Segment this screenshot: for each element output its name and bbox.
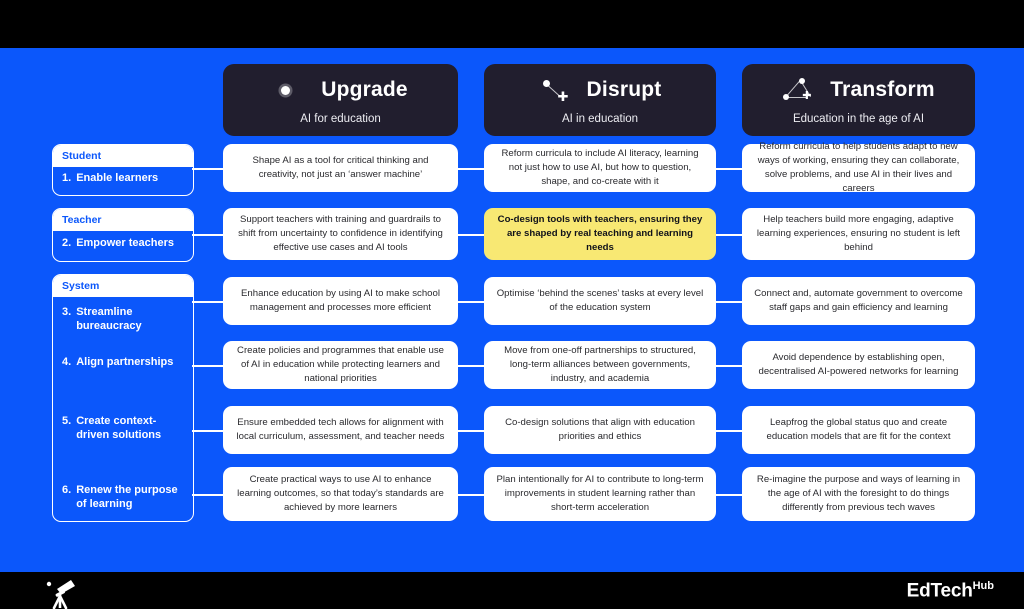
sidebar-item-number: 3. — [62, 305, 71, 333]
cell-text: Shape AI as a tool for critical thinking… — [234, 154, 447, 182]
sidebar-item-align-partnerships[interactable]: 4. Align partnerships — [53, 355, 193, 369]
cell-text: Create policies and programmes that enab… — [234, 344, 447, 386]
column-subtitle-transform: Education in the age of AI — [793, 114, 924, 126]
cell-text: Enhance education by using AI to make sc… — [234, 287, 447, 315]
triangle-network-icon: ✚ — [782, 77, 816, 103]
connector-col2-col3-row1 — [715, 168, 743, 170]
connector-col2-col3-row3 — [715, 301, 743, 303]
sidebar-item-label: Streamline bureaucracy — [76, 305, 188, 333]
sidebar-group-label-system: System — [53, 275, 193, 297]
cell-text: Help teachers build more engaging, adapt… — [753, 213, 964, 255]
cell-text: Connect and, automate government to over… — [753, 287, 964, 315]
telescope-icon — [44, 577, 80, 609]
column-header-transform[interactable]: ✚ Transform Education in the age of AI — [742, 64, 975, 136]
connector-sidebar-row2 — [192, 234, 224, 236]
connector-col1-col2-row5 — [458, 430, 485, 432]
connector-sidebar-row4 — [192, 365, 224, 367]
matrix-cell-create-context-driven-solutions-transform[interactable]: Leapfrog the global status quo and creat… — [742, 406, 975, 454]
matrix-cell-renew-the-purpose-of-learning-upgrade[interactable]: Create practical ways to use AI to enhan… — [223, 467, 458, 521]
sidebar-item-number: 5. — [62, 414, 71, 442]
sidebar-item-label: Align partnerships — [76, 355, 188, 369]
column-header-disrupt[interactable]: ✚ Disrupt AI in education — [484, 64, 716, 136]
matrix-cell-renew-the-purpose-of-learning-transform[interactable]: Re-imagine the purpose and ways of learn… — [742, 467, 975, 521]
cell-text: Plan intentionally for AI to contribute … — [495, 473, 705, 515]
sidebar-item-number: 1. — [62, 171, 71, 185]
sidebar-body-student: 1. Enable learners — [53, 167, 193, 191]
cell-text: Support teachers with training and guard… — [234, 213, 447, 255]
connector-col1-col2-row3 — [458, 301, 485, 303]
sidebar-item-renew-the-purpose-of-learning[interactable]: 6. Renew the purpose of learning — [53, 483, 193, 511]
connector-col2-col3-row2 — [715, 234, 743, 236]
sidebar-item-empower-teachers[interactable]: 2. Empower teachers — [53, 236, 193, 250]
sidebar-body-teacher: 2. Empower teachers — [53, 231, 193, 257]
matrix-cell-enable-learners-transform[interactable]: Reform curricula to help students adapt … — [742, 144, 975, 192]
slide-canvas: Upgrade AI for education ✚ Disrupt AI in… — [0, 48, 1024, 572]
header-top-transform: ✚ Transform — [782, 75, 935, 105]
matrix-cell-empower-teachers-upgrade[interactable]: Support teachers with training and guard… — [223, 208, 458, 260]
sidebar-group-student: Student 1. Enable learners — [52, 144, 194, 196]
sidebar-group-label-teacher: Teacher — [53, 209, 193, 231]
matrix-cell-streamline-bureaucracy-transform[interactable]: Connect and, automate government to over… — [742, 277, 975, 325]
cell-text: Re-imagine the purpose and ways of learn… — [753, 473, 964, 515]
column-header-row: Upgrade AI for education ✚ Disrupt AI in… — [0, 64, 1024, 136]
connector-col1-col2-row6 — [458, 494, 485, 496]
cell-text: Move from one-off partnerships to struct… — [495, 344, 705, 386]
matrix-cell-align-partnerships-transform[interactable]: Avoid dependence by establishing open, d… — [742, 341, 975, 389]
connector-col2-col3-row4 — [715, 365, 743, 367]
connector-sidebar-row5 — [192, 430, 224, 432]
sidebar-item-number: 4. — [62, 355, 71, 369]
sidebar-item-label: Enable learners — [76, 171, 188, 185]
cell-text: Leapfrog the global status quo and creat… — [753, 416, 964, 444]
column-title-upgrade: Upgrade — [321, 79, 408, 100]
cell-text: Co-design solutions that align with educ… — [495, 416, 705, 444]
connector-col1-col2-row4 — [458, 365, 485, 367]
sidebar-item-label: Renew the purpose of learning — [76, 483, 188, 511]
single-dot-icon — [273, 77, 307, 103]
sidebar-item-number: 2. — [62, 236, 71, 250]
sidebar-group-teacher: Teacher 2. Empower teachers — [52, 208, 194, 262]
matrix-cell-align-partnerships-disrupt[interactable]: Move from one-off partnerships to struct… — [484, 341, 716, 389]
cell-text: Reform curricula to include AI literacy,… — [495, 147, 705, 189]
edtech-hub-logo: EdTechHub — [907, 581, 994, 600]
connector-sidebar-row3 — [192, 301, 224, 303]
matrix-cell-create-context-driven-solutions-disrupt[interactable]: Co-design solutions that align with educ… — [484, 406, 716, 454]
header-top-upgrade: Upgrade — [273, 75, 408, 105]
sidebar-group-label-student: Student — [53, 145, 193, 167]
cell-text: Optimise ‘behind the scenes’ tasks at ev… — [495, 287, 705, 315]
sidebar-item-label: Empower teachers — [76, 236, 188, 250]
matrix-cell-empower-teachers-transform[interactable]: Help teachers build more engaging, adapt… — [742, 208, 975, 260]
logo-sup-text: Hub — [973, 580, 994, 592]
connector-sidebar-row6 — [192, 494, 224, 496]
connector-col2-col3-row5 — [715, 430, 743, 432]
sidebar-item-streamline-bureaucracy[interactable]: 3. Streamline bureaucracy — [53, 305, 193, 333]
matrix-cell-streamline-bureaucracy-disrupt[interactable]: Optimise ‘behind the scenes’ tasks at ev… — [484, 277, 716, 325]
matrix-cell-renew-the-purpose-of-learning-disrupt[interactable]: Plan intentionally for AI to contribute … — [484, 467, 716, 521]
matrix-cell-create-context-driven-solutions-upgrade[interactable]: Ensure embedded tech allows for alignmen… — [223, 406, 458, 454]
logo-main-text: EdTech — [907, 580, 973, 601]
cell-text: Reform curricula to help students adapt … — [753, 140, 964, 196]
matrix-cell-enable-learners-upgrade[interactable]: Shape AI as a tool for critical thinking… — [223, 144, 458, 192]
sidebar-item-number: 6. — [62, 483, 71, 511]
matrix-cell-streamline-bureaucracy-upgrade[interactable]: Enhance education by using AI to make sc… — [223, 277, 458, 325]
two-point-line-icon: ✚ — [539, 77, 573, 103]
cell-text: Create practical ways to use AI to enhan… — [234, 473, 447, 515]
sidebar-item-create-context-driven-solutions[interactable]: 5. Create context-driven solutions — [53, 414, 193, 442]
cell-text: Co-design tools with teachers, ensuring … — [495, 213, 705, 255]
column-title-transform: Transform — [830, 79, 935, 100]
column-subtitle-disrupt: AI in education — [562, 114, 638, 126]
header-top-disrupt: ✚ Disrupt — [539, 75, 662, 105]
column-header-upgrade[interactable]: Upgrade AI for education — [223, 64, 458, 136]
connector-col2-col3-row6 — [715, 494, 743, 496]
matrix-cell-empower-teachers-disrupt[interactable]: Co-design tools with teachers, ensuring … — [484, 208, 716, 260]
matrix-cell-align-partnerships-upgrade[interactable]: Create policies and programmes that enab… — [223, 341, 458, 389]
sidebar-item-enable-learners[interactable]: 1. Enable learners — [53, 171, 193, 185]
sidebar-body-system: 3. Streamline bureaucracy 4. Align partn… — [53, 297, 193, 519]
sidebar-group-system: System 3. Streamline bureaucracy 4. Alig… — [52, 274, 194, 522]
cell-text: Ensure embedded tech allows for alignmen… — [234, 416, 447, 444]
connector-col1-col2-row2 — [458, 234, 485, 236]
connector-sidebar-row1 — [192, 168, 224, 170]
connector-col1-col2-row1 — [458, 168, 485, 170]
column-subtitle-upgrade: AI for education — [300, 114, 381, 126]
sidebar-item-label: Create context-driven solutions — [76, 414, 188, 442]
cell-text: Avoid dependence by establishing open, d… — [753, 351, 964, 379]
column-title-disrupt: Disrupt — [587, 79, 662, 100]
matrix-cell-enable-learners-disrupt[interactable]: Reform curricula to include AI literacy,… — [484, 144, 716, 192]
